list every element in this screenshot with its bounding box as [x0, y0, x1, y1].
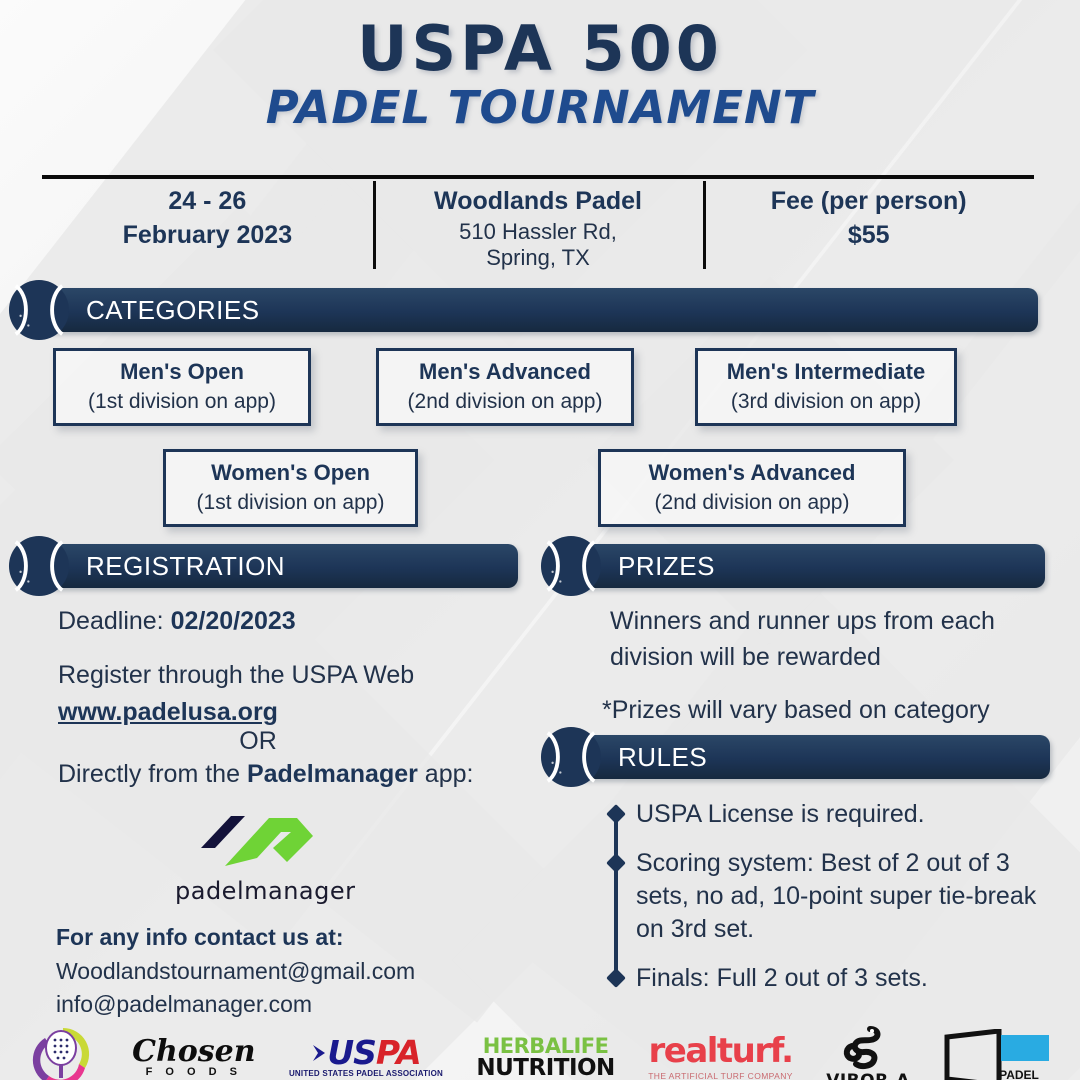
page-subtitle: PADEL TOURNAMENT: [0, 84, 1080, 131]
category-card[interactable]: Women's Advanced (2nd division on app): [598, 449, 906, 527]
sponsor-woodlands-padel: [27, 1022, 99, 1080]
sponsor-padel-court-usa: PADEL COURT USA: [943, 1029, 1053, 1080]
deadline-label: Deadline:: [58, 607, 171, 635]
category-subtitle: (1st division on app): [197, 490, 385, 516]
contact-block: For any info contact us at: Woodlandstou…: [56, 920, 526, 1021]
registration-app-row: Directly from the Padelmanager app:: [58, 756, 518, 792]
herbalife-subtext: NUTRITION: [476, 1057, 614, 1080]
rules-label: RULES: [618, 742, 707, 773]
prizes-line-1: Winners and runner ups from each: [610, 603, 1030, 639]
sponsor-realturf: realturf. THE ARTIFICIAL TURF COMPANY: [648, 1035, 793, 1080]
app-name: Padelmanager: [247, 760, 418, 788]
diamond-bullet-icon: [606, 804, 626, 824]
vibora-snake-icon: [840, 1026, 896, 1070]
venue-name: Woodlands Padel: [434, 185, 642, 219]
category-card[interactable]: Women's Open (1st division on app): [163, 449, 418, 527]
venue-address-line2: Spring, TX: [486, 245, 590, 271]
uspa-starburst-icon: [311, 1040, 327, 1066]
info-column-venue: Woodlands Padel 510 Hassler Rd, Spring, …: [373, 179, 704, 274]
prizes-bar: PRIZES: [580, 544, 1045, 588]
sponsor-chosen-foods: Chosen F O O D S: [132, 1038, 256, 1079]
padel-court-usa-wordmark: PADEL: [999, 1069, 1043, 1080]
tennis-ball-icon: [8, 279, 70, 341]
page-title: USPA 500: [0, 18, 1080, 80]
rule-text: USPA License is required.: [636, 800, 925, 828]
prizes-line-2: division will be rewarded: [610, 639, 1030, 675]
diamond-bullet-icon: [606, 968, 626, 988]
deadline-value: 02/20/2023: [171, 607, 296, 635]
tennis-ball-icon: [540, 726, 602, 788]
sponsor-vibora: VIBOR-A: [826, 1026, 910, 1080]
sponsor-uspa: USPA UNITED STATES PADEL ASSOCIATION: [289, 1038, 443, 1079]
registration-label: REGISTRATION: [86, 551, 285, 582]
category-subtitle: (2nd division on app): [408, 389, 603, 415]
category-title: Women's Open: [211, 460, 370, 486]
fee-label: Fee (per person): [771, 185, 967, 219]
contact-email-padelmanager[interactable]: info@padelmanager.com: [56, 988, 526, 1021]
categories-bar: CATEGORIES: [48, 288, 1038, 332]
registration-deadline-row: Deadline: 02/20/2023: [58, 603, 518, 639]
category-card[interactable]: Men's Intermediate (3rd division on app): [695, 348, 957, 426]
category-title: Men's Intermediate: [727, 359, 925, 385]
prizes-content: Winners and runner ups from each divisio…: [610, 603, 1030, 728]
rule-text: Finals: Full 2 out of 3 sets.: [636, 964, 928, 992]
fee-amount: $55: [848, 219, 890, 253]
tennis-ball-icon: [540, 535, 602, 597]
tennis-ball-icon: [8, 535, 70, 597]
prizes-label: PRIZES: [618, 551, 715, 582]
sponsor-herbalife: HERBALIFE NUTRITION: [476, 1036, 614, 1080]
category-card[interactable]: Men's Open (1st division on app): [53, 348, 311, 426]
venue-address-line1: 510 Hassler Rd,: [459, 219, 617, 245]
registration-or: OR: [58, 727, 458, 756]
rule-item: Scoring system: Best of 2 out of 3 sets,…: [608, 847, 1048, 946]
info-column-fee: Fee (per person) $55: [703, 179, 1034, 274]
chosen-subtext: F O O D S: [146, 1066, 242, 1078]
contact-email-tournament[interactable]: Woodlandstournament@gmail.com: [56, 955, 526, 988]
app-suffix: app:: [418, 760, 474, 788]
realturf-wordmark: realturf.: [649, 1035, 793, 1067]
prizes-note: *Prizes will vary based on category: [602, 692, 1030, 728]
rules-content: USPA License is required. Scoring system…: [608, 798, 1048, 1011]
herbalife-wordmark: HERBALIFE: [483, 1036, 609, 1057]
padelusa-link[interactable]: www.padelusa.org: [58, 698, 278, 727]
rule-item: USPA License is required.: [608, 798, 1048, 831]
padelmanager-wordmark: padelmanager: [175, 877, 345, 905]
info-column-dates: 24 - 26 February 2023: [42, 179, 373, 274]
category-subtitle: (1st division on app): [88, 389, 276, 415]
event-dates-line1: 24 - 26: [168, 185, 246, 219]
chosen-wordmark: Chosen: [132, 1038, 256, 1067]
contact-heading: For any info contact us at:: [56, 920, 526, 955]
padelmanager-mark-icon: [195, 808, 325, 870]
category-title: Men's Advanced: [419, 359, 591, 385]
registration-content: Deadline: 02/20/2023 Register through th…: [58, 603, 518, 796]
rule-text: Scoring system: Best of 2 out of 3 sets,…: [636, 849, 1036, 943]
category-subtitle: (3rd division on app): [731, 389, 921, 415]
event-dates-line2: February 2023: [123, 219, 293, 253]
category-title: Men's Open: [120, 359, 244, 385]
rules-bar: RULES: [580, 735, 1050, 779]
category-title: Women's Advanced: [649, 460, 856, 486]
woodlands-padel-logo-icon: [27, 1022, 99, 1080]
rule-item: Finals: Full 2 out of 3 sets.: [608, 962, 1048, 995]
category-subtitle: (2nd division on app): [655, 490, 850, 516]
padelmanager-logo: padelmanager: [175, 808, 345, 905]
uspa-wordmark: USPA: [327, 1038, 420, 1068]
vibora-wordmark: VIBOR-A: [826, 1071, 910, 1080]
app-prefix: Directly from the: [58, 760, 247, 788]
event-info-bar: 24 - 26 February 2023 Woodlands Padel 51…: [42, 179, 1034, 274]
sponsor-strip: Chosen F O O D S USPA UNITED STATES PADE…: [0, 1018, 1080, 1080]
registration-bar: REGISTRATION: [48, 544, 518, 588]
category-card[interactable]: Men's Advanced (2nd division on app): [376, 348, 634, 426]
diamond-bullet-icon: [606, 853, 626, 873]
poster-root: USPA 500 PADEL TOURNAMENT 24 - 26 Februa…: [0, 0, 1080, 1080]
registration-web-text: Register through the USPA Web: [58, 657, 518, 693]
uspa-subtext: UNITED STATES PADEL ASSOCIATION: [289, 1069, 443, 1078]
categories-label: CATEGORIES: [86, 295, 260, 326]
realturf-subtext: THE ARTIFICIAL TURF COMPANY: [648, 1071, 793, 1080]
